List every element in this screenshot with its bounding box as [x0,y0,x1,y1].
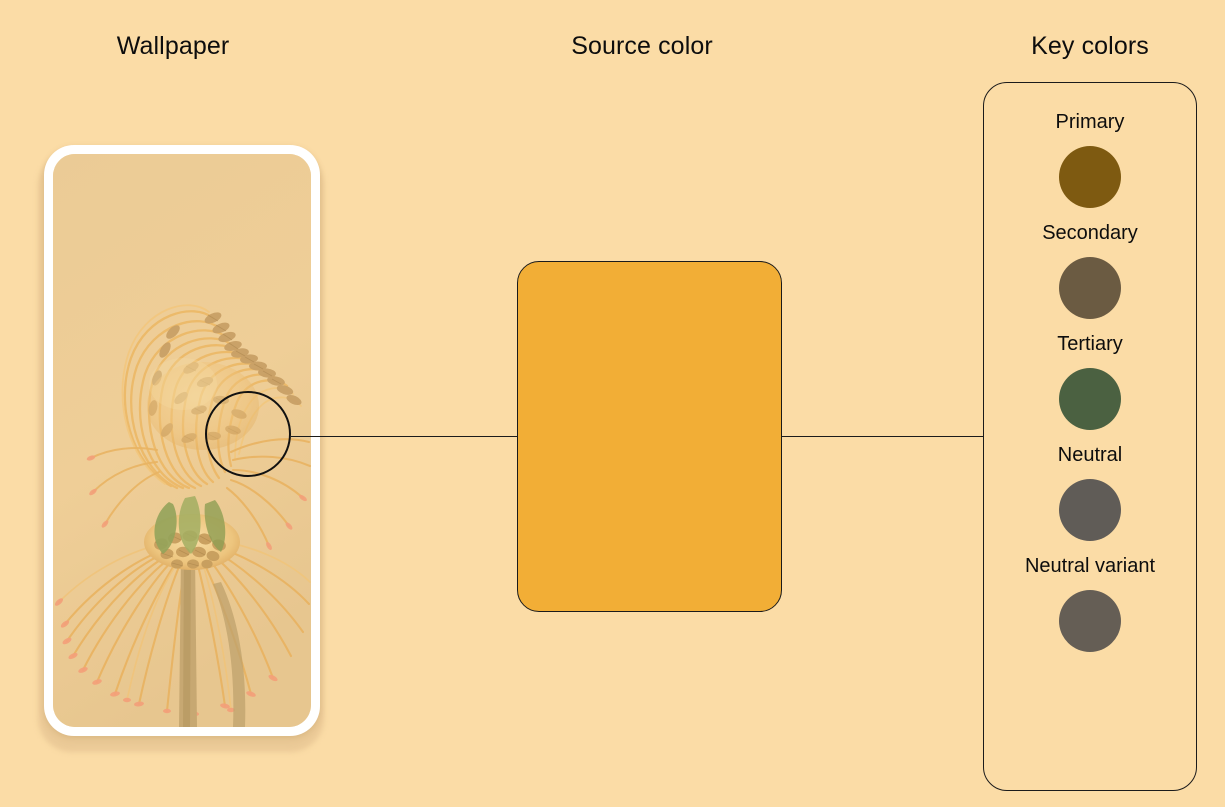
column-title-key-colors: Key colors [1031,32,1149,61]
magnifier-circle-icon [205,391,291,477]
key-color-label-neutral: Neutral [1058,445,1122,465]
key-color-dot-neutral-variant [1059,590,1121,652]
key-color-label-primary: Primary [1056,112,1125,132]
key-color-item-neutral-variant: Neutral variant [1025,556,1155,652]
key-color-label-tertiary: Tertiary [1057,334,1123,354]
diagram-canvas: Wallpaper Source color Key colors [0,0,1225,807]
connector-line-source-to-key-colors [781,436,984,437]
key-color-item-primary: Primary [1056,112,1125,208]
key-color-item-tertiary: Tertiary [1057,334,1123,430]
key-color-item-neutral: Neutral [1058,445,1122,541]
connector-line-wallpaper-to-source [291,436,518,437]
column-title-source-color: Source color [571,32,713,61]
key-color-dot-primary [1059,146,1121,208]
column-title-wallpaper: Wallpaper [117,32,230,61]
key-color-dot-neutral [1059,479,1121,541]
key-color-dot-tertiary [1059,368,1121,430]
key-color-dot-secondary [1059,257,1121,319]
key-colors-panel: Primary Secondary Tertiary Neutral Neutr… [983,82,1197,791]
key-color-label-neutral-variant: Neutral variant [1025,556,1155,576]
key-color-label-secondary: Secondary [1042,223,1138,243]
source-color-swatch [517,261,782,612]
key-color-item-secondary: Secondary [1042,223,1138,319]
